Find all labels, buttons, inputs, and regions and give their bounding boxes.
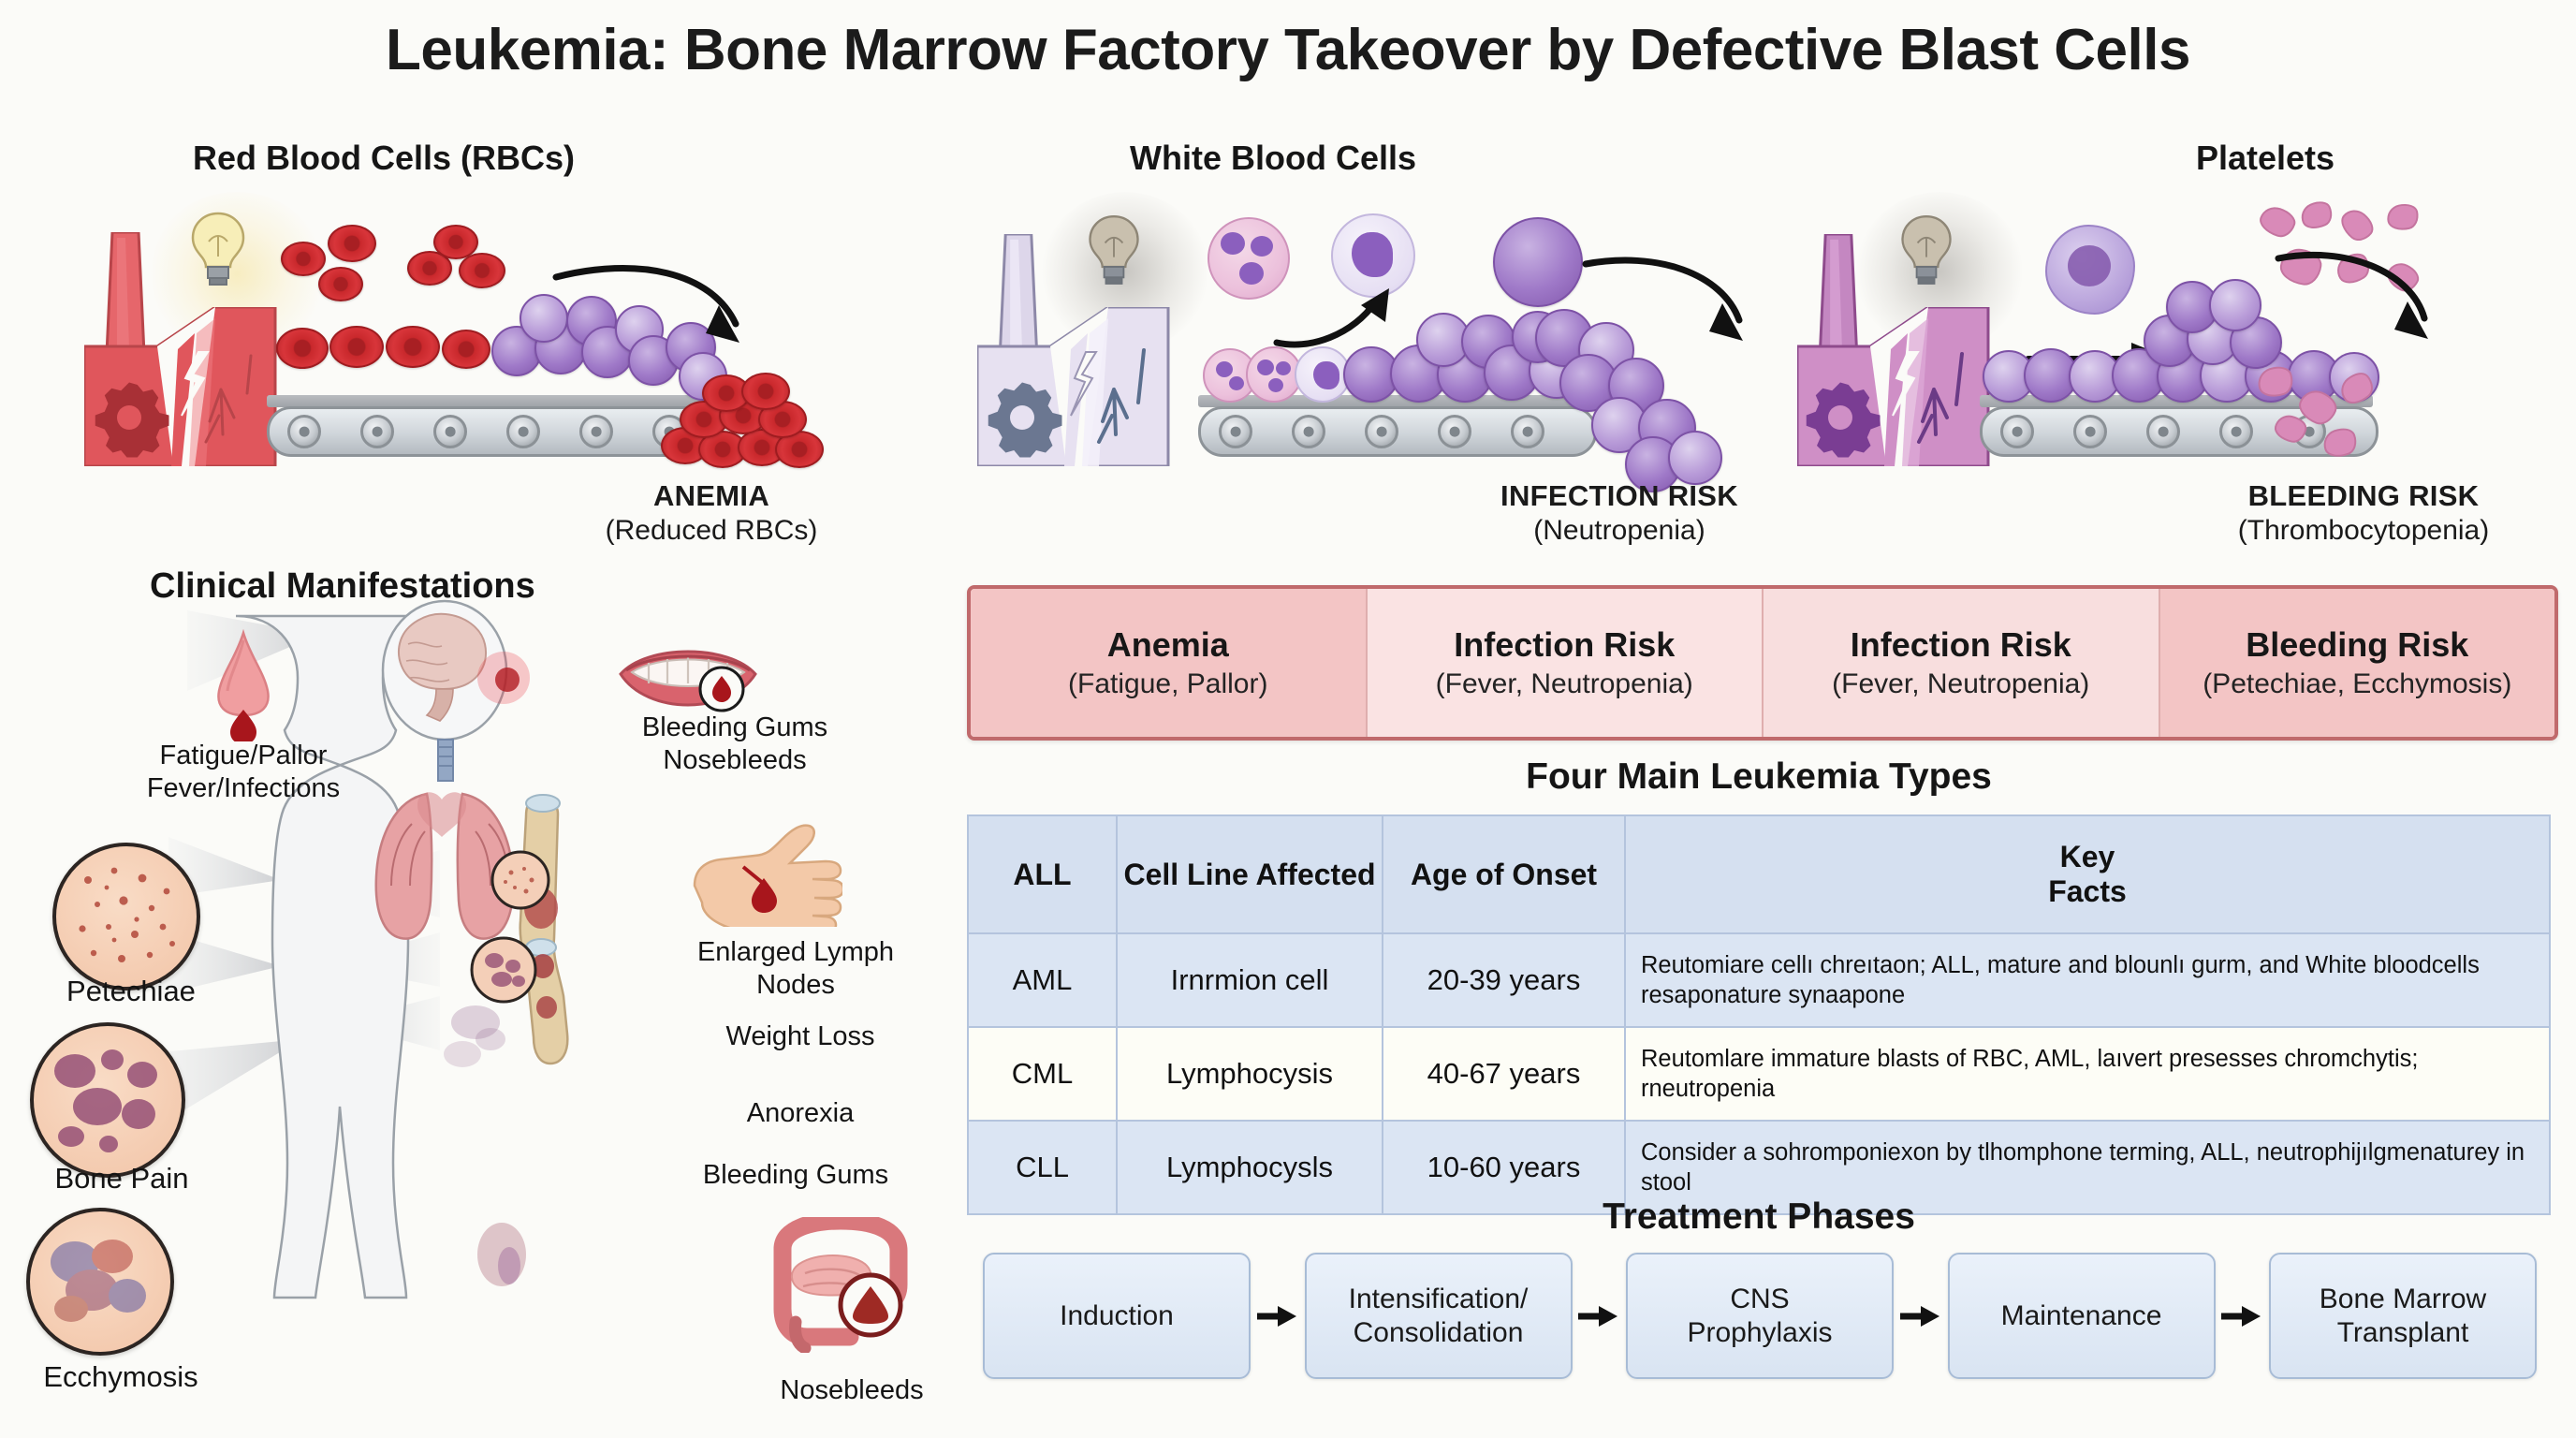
red-blood-cell <box>442 330 490 369</box>
factory-building-cracked <box>1797 307 1994 466</box>
risk-cell-infection-2: Infection Risk (Fever, Neutropenia) <box>1764 589 2160 737</box>
phase-maintenance: Maintenance <box>1948 1253 2216 1379</box>
lightbulb-icon <box>184 210 252 290</box>
platelet-outcome-title: BLEEDING RISK <box>2153 479 2574 514</box>
phase-induction: Induction <box>983 1253 1251 1379</box>
wbc-outcome-title: INFECTION RISK <box>1413 479 1825 514</box>
wbc-outcome-caption: INFECTION RISK (Neutropenia) <box>1413 479 1825 547</box>
col-header-cell-line: Cell Line Affected <box>1117 815 1383 933</box>
cell-line: Lymphocysis <box>1117 1027 1383 1121</box>
cell-facts: Reutomiare cellı chreıtaon; ALL, mature … <box>1625 933 2550 1027</box>
nucleus-lobe <box>1268 378 1283 392</box>
belt-roller <box>1438 415 1471 448</box>
rbc-flow-arrow <box>552 253 768 374</box>
label-fatigue-pallor: Fatigue/Pallor Fever/Infections <box>103 740 384 805</box>
platelet <box>2297 197 2336 233</box>
label-line1: Bleeding Gums <box>580 712 889 744</box>
nucleus-lobe <box>1313 361 1339 389</box>
neutrophil-cell <box>1246 346 1302 403</box>
nucleus-lobe <box>1221 232 1245 255</box>
nucleus-lobe <box>1276 361 1291 375</box>
bruise-blotches <box>34 1026 182 1174</box>
phase-label: Maintenance <box>2001 1299 2162 1333</box>
cell-facts: Reutomlare immature blasts of RBC, AML, … <box>1625 1027 2550 1121</box>
label-ecchymosis: Ecchymosis <box>13 1359 228 1394</box>
panel-heading-platelets: Platelets <box>2069 139 2462 178</box>
types-section-heading: Four Main Leukemia Types <box>967 756 2551 798</box>
platelet <box>2272 413 2308 445</box>
platelet <box>2256 203 2298 241</box>
phase-label-line1: Bone Marrow <box>2320 1283 2486 1316</box>
label-line1: Enlarged Lymph <box>655 936 936 969</box>
petechiae-inset <box>52 843 200 990</box>
label-line1: Fatigue/Pallor <box>103 740 384 772</box>
flow-arrow-icon <box>1900 1302 1941 1330</box>
risk-summary-banner: Anemia (Fatigue, Pallor) Infection Risk … <box>967 585 2558 741</box>
red-blood-cell <box>281 242 326 276</box>
rbc-outcome-sub: (Reduced RBCs) <box>524 514 899 547</box>
nucleus-lobe <box>1239 262 1264 285</box>
rbc-outcome-title: ANEMIA <box>524 479 899 514</box>
risk-title: Bleeding Risk <box>2246 625 2468 665</box>
table-row: AML Irnrmion cell 20-39 years Reutomiare… <box>968 933 2550 1027</box>
flow-arrow-icon <box>1578 1302 1619 1330</box>
label-nosebleeds: Nosebleeds <box>711 1374 992 1407</box>
risk-title: Anemia <box>1107 625 1229 665</box>
factory-building-cracked <box>84 307 281 466</box>
col-header-type: ALL <box>968 815 1117 933</box>
red-blood-cell <box>328 225 376 262</box>
lightbulb-icon-dim <box>1895 212 1958 290</box>
nucleus-lobe <box>1216 361 1233 377</box>
belt-roller <box>287 415 321 448</box>
platelet-outcome-sub: (Thrombocytopenia) <box>2153 514 2574 547</box>
red-blood-cell <box>318 267 363 301</box>
risk-title: Infection Risk <box>1454 625 1675 665</box>
red-blood-cell <box>329 326 384 368</box>
red-blood-cell <box>386 326 440 368</box>
risk-title: Infection Risk <box>1851 625 2071 665</box>
phase-label-line1: Intensification/ <box>1349 1283 1529 1316</box>
cell-type: CML <box>968 1027 1117 1121</box>
ecchymosis-blotches <box>30 1211 170 1352</box>
risk-cell-bleeding: Bleeding Risk (Petechiae, Ecchymosis) <box>2160 589 2555 737</box>
belt-roller <box>2073 415 2107 448</box>
wbc-flow-arrow <box>1582 245 1769 367</box>
nucleus-lobe <box>1251 236 1273 257</box>
wbc-outcome-sub: (Neutropenia) <box>1413 514 1825 547</box>
belt-roller <box>1365 415 1398 448</box>
ecchymosis-inset <box>26 1208 174 1356</box>
key-facts-line1: Key <box>1632 840 2543 874</box>
nose-bleed-icon <box>201 629 285 741</box>
treatment-heading: Treatment Phases <box>967 1196 2551 1238</box>
platelet <box>2384 201 2421 233</box>
platelet <box>2320 424 2361 462</box>
table-header-row: ALL Cell Line Affected Age of Onset Key … <box>968 815 2550 933</box>
phase-bone-marrow-transplant: Bone Marrow Transplant <box>2269 1253 2537 1379</box>
rbc-pile <box>655 393 889 477</box>
risk-detail: (Fever, Neutropenia) <box>1832 668 2089 700</box>
platelet-flow-arrow <box>2275 242 2452 363</box>
risk-detail: (Fatigue, Pallor) <box>1068 668 1267 700</box>
red-blood-cell <box>741 373 790 410</box>
blast-cell-large <box>1493 217 1583 307</box>
label-anorexia: Anorexia <box>674 1097 927 1130</box>
label-line2: Fever/Infections <box>103 772 384 805</box>
col-header-age: Age of Onset <box>1383 815 1625 933</box>
red-blood-cell <box>276 328 329 369</box>
platelet <box>2254 362 2297 402</box>
label-petechiae: Petechiae <box>37 974 225 1008</box>
megakaryocyte-cell <box>2045 225 2135 315</box>
risk-detail: (Petechiae, Ecchymosis) <box>2203 668 2511 700</box>
belt-roller <box>2146 415 2180 448</box>
phase-label-line2: Transplant <box>2337 1316 2469 1350</box>
phase-cns-prophylaxis: CNS Prophylaxis <box>1626 1253 1894 1379</box>
risk-cell-anemia: Anemia (Fatigue, Pallor) <box>971 589 1368 737</box>
risk-cell-infection-1: Infection Risk (Fever, Neutropenia) <box>1368 589 1764 737</box>
phase-label-line2: Consolidation <box>1354 1316 1524 1350</box>
flow-arrow-icon <box>1257 1302 1298 1330</box>
factory-building-cracked <box>977 307 1174 466</box>
platelet <box>2335 367 2379 410</box>
treatment-flow: Induction Intensification/ Consolidation… <box>983 1253 2537 1379</box>
cell-age: 40-67 years <box>1383 1027 1625 1121</box>
phase-intensification: Intensification/ Consolidation <box>1305 1253 1573 1379</box>
nucleus-lobe <box>1229 376 1244 390</box>
platelet <box>2335 204 2378 246</box>
blast-cell <box>1668 431 1722 485</box>
belt-roller <box>433 415 467 448</box>
risk-detail: (Fever, Neutropenia) <box>1436 668 1693 700</box>
phase-label-line1: CNS <box>1730 1283 1789 1316</box>
phase-label-line2: Prophylaxis <box>1687 1316 1832 1350</box>
nucleus-lobe <box>1257 359 1274 375</box>
leukemia-types-table: ALL Cell Line Affected Age of Onset Key … <box>967 814 2551 1215</box>
lightbulb-icon-dim <box>1082 212 1146 290</box>
label-line2: Nosebleeds <box>580 744 889 777</box>
rbc-outcome-caption: ANEMIA (Reduced RBCs) <box>524 479 899 547</box>
petechiae-dots <box>56 846 197 987</box>
hand-bleed-icon <box>683 824 842 927</box>
label-weight-loss: Weight Loss <box>674 1020 927 1053</box>
page-title: Leukemia: Bone Marrow Factory Takeover b… <box>0 17 2576 83</box>
panel-heading-rbc: Red Blood Cells (RBCs) <box>150 139 618 178</box>
panel-heading-wbc: White Blood Cells <box>1039 139 1507 178</box>
label-bone-pain: Bone Pain <box>19 1161 225 1196</box>
key-facts-line2: Facts <box>1632 874 2543 909</box>
belt-roller <box>1219 415 1252 448</box>
cell-line: Irnrmion cell <box>1117 933 1383 1027</box>
flow-arrow-icon <box>2221 1302 2262 1330</box>
cell-age: 20-39 years <box>1383 933 1625 1027</box>
monocyte-cell <box>1295 346 1351 403</box>
intestine-icon <box>758 1217 922 1353</box>
cell-type: AML <box>968 933 1117 1027</box>
platelet-outcome-caption: BLEEDING RISK (Thrombocytopenia) <box>2153 479 2574 547</box>
label-bleeding-gums-2: Bleeding Gums <box>655 1159 936 1192</box>
table-row: CML Lymphocysis 40-67 years Reutomlare i… <box>968 1027 2550 1121</box>
nucleus-lobe <box>1352 232 1393 277</box>
label-enlarged-lymph-nodes: Enlarged Lymph Nodes <box>655 936 936 1002</box>
belt-roller <box>2000 415 2034 448</box>
bone-pain-inset <box>30 1022 185 1178</box>
belt-roller <box>360 415 394 448</box>
phase-label: Induction <box>1060 1299 1174 1333</box>
label-line2: Nodes <box>655 969 936 1002</box>
col-header-key-facts: Key Facts <box>1625 815 2550 933</box>
belt-roller <box>1292 415 1325 448</box>
label-bleeding-gums-nosebleeds: Bleeding Gums Nosebleeds <box>580 712 889 777</box>
